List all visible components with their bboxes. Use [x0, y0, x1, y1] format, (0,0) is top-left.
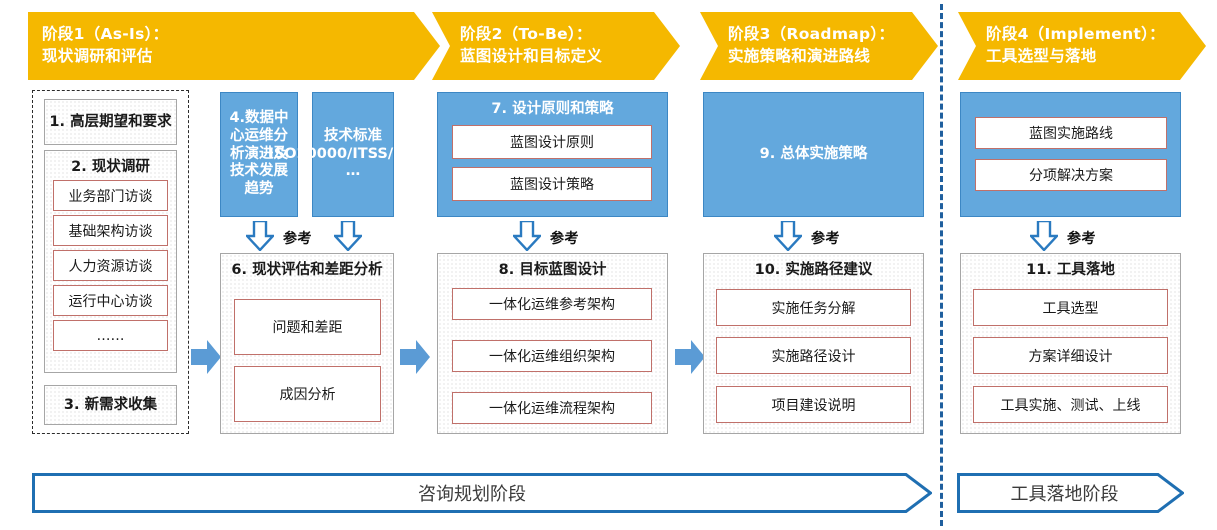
bottom-band-consulting-label: 咨询规划阶段	[418, 480, 526, 506]
col4-item-2: 实施路径设计	[716, 337, 911, 374]
col2-blue-box-right-text: 技术标准ISO20000/ITSS/ITIL… …	[314, 94, 392, 215]
col3-blue-item-2: 蓝图设计策略	[452, 167, 652, 201]
phase-banner-3: 阶段3（Roadmap）： 实施策略和演进路线	[700, 12, 938, 80]
reference-arrow-col3	[513, 221, 541, 251]
col2-panel-6-title: 6. 现状评估和差距分析	[221, 261, 393, 279]
col4-blue-panel-9-title: 9. 总体实施策略	[703, 92, 924, 217]
col1-interview-item-2: 基础架构访谈	[53, 215, 168, 246]
reference-arrow-col2-right	[334, 221, 362, 251]
phase-banner-2-text: 阶段2（To-Be）： 蓝图设计和目标定义	[432, 23, 680, 68]
col4-item-3: 项目建设说明	[716, 386, 911, 423]
col3-item-2: 一体化运维组织架构	[452, 340, 652, 372]
reference-label-col4: 参考	[811, 228, 840, 248]
reference-arrow-col2-left	[246, 221, 274, 251]
col1-interview-item-5: ……	[53, 320, 168, 351]
phase-banner-2: 阶段2（To-Be）： 蓝图设计和目标定义	[432, 12, 680, 80]
reference-label-col2: 参考	[283, 228, 312, 248]
col3-item-3: 一体化运维流程架构	[452, 392, 652, 424]
col3-blue-panel-7-title: 7. 设计原则和策略	[438, 100, 667, 118]
col1-box-1: 1. 高层期望和要求	[44, 99, 177, 145]
flow-arrow-3	[675, 340, 705, 374]
phase-banner-2-line2: 蓝图设计和目标定义	[460, 45, 680, 67]
phase-banner-1-line1: 阶段1（As-Is）：	[42, 25, 168, 43]
col5-item-3: 工具实施、测试、上线	[973, 386, 1168, 423]
phase-banner-4-text: 阶段4（Implement）： 工具选型与落地	[958, 23, 1206, 68]
phase-banner-3-line2: 实施策略和演进路线	[728, 45, 938, 67]
col1-box-3: 3. 新需求收集	[44, 385, 177, 425]
phase-banner-3-text: 阶段3（Roadmap）： 实施策略和演进路线	[700, 23, 938, 68]
phase-divider	[940, 4, 943, 526]
phase-banner-4: 阶段4（Implement）： 工具选型与落地	[958, 12, 1206, 80]
reference-label-col5: 参考	[1067, 228, 1096, 248]
col5-item-1: 工具选型	[973, 289, 1168, 326]
col5-item-2: 方案详细设计	[973, 337, 1168, 374]
process-diagram: 阶段1（As-Is）： 现状调研和评估 阶段2（To-Be）： 蓝图设计和目标定…	[0, 0, 1217, 530]
col4-item-1: 实施任务分解	[716, 289, 911, 326]
col5-blue-item-2: 分项解决方案	[975, 159, 1167, 191]
col5-panel-11-title: 11. 工具落地	[961, 261, 1180, 279]
col4-panel-10-title: 10. 实施路径建议	[704, 261, 923, 279]
flow-arrow-1	[191, 340, 221, 374]
phase-banner-1: 阶段1（As-Is）： 现状调研和评估	[28, 12, 440, 80]
phase-banner-4-line1: 阶段4（Implement）：	[986, 25, 1165, 43]
col2-item-2: 成因分析	[234, 366, 381, 422]
phase-banner-1-text: 阶段1（As-Is）： 现状调研和评估	[28, 23, 440, 68]
col3-panel-8-title: 8. 目标蓝图设计	[438, 261, 667, 279]
col5-blue-panel	[960, 92, 1181, 217]
col1-interview-item-1: 业务部门访谈	[53, 180, 168, 211]
col3-item-1: 一体化运维参考架构	[452, 288, 652, 320]
col1-box-2-title: 2. 现状调研	[45, 158, 176, 176]
reference-arrow-col5	[1030, 221, 1058, 251]
phase-banner-3-line1: 阶段3（Roadmap）：	[728, 25, 894, 43]
col1-interview-item-4: 运行中心访谈	[53, 285, 168, 316]
phase-banner-4-line2: 工具选型与落地	[986, 45, 1206, 67]
flow-arrow-2	[400, 340, 430, 374]
phase-banner-2-line1: 阶段2（To-Be）：	[460, 25, 592, 43]
reference-arrow-col4	[774, 221, 802, 251]
col5-blue-item-1: 蓝图实施路线	[975, 117, 1167, 149]
phase-banner-1-line2: 现状调研和评估	[42, 45, 440, 67]
col3-blue-item-1: 蓝图设计原则	[452, 125, 652, 159]
col2-item-1: 问题和差距	[234, 299, 381, 355]
bottom-band-tooling: 工具落地阶段	[957, 473, 1184, 513]
reference-label-col3: 参考	[550, 228, 579, 248]
bottom-band-tooling-label: 工具落地阶段	[1011, 480, 1119, 506]
bottom-band-consulting: 咨询规划阶段	[32, 473, 932, 513]
col1-interview-item-3: 人力资源访谈	[53, 250, 168, 281]
